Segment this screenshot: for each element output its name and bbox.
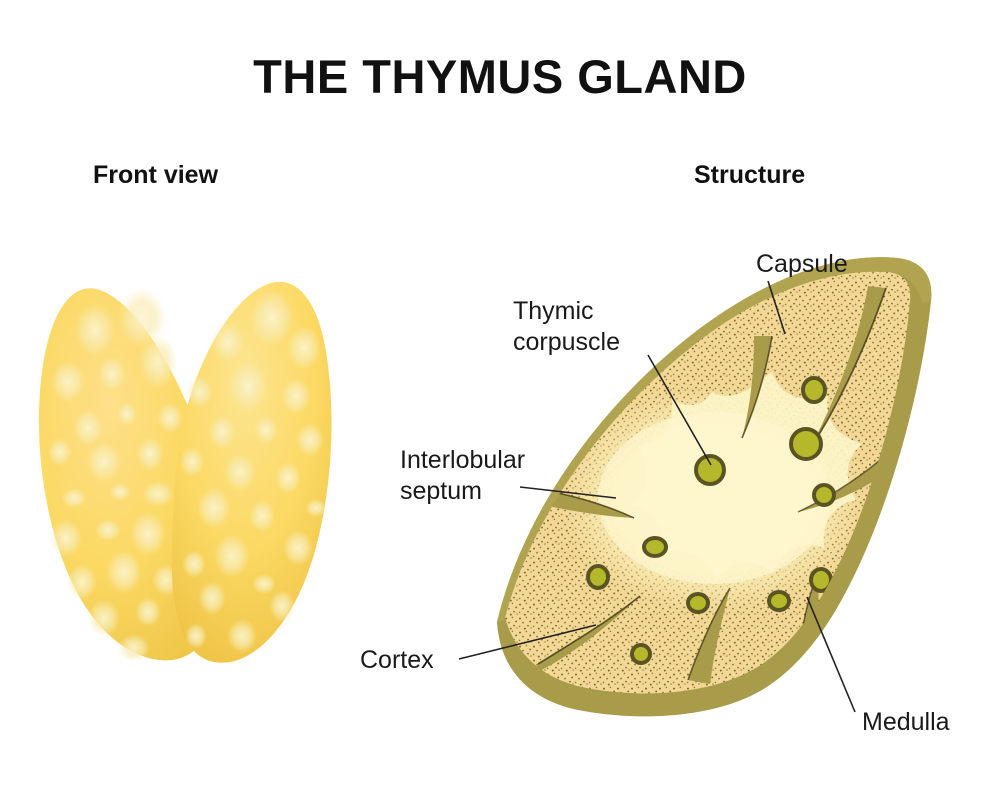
label-thymic-corpuscle-line2: corpuscle: [513, 328, 620, 356]
front-view-heading: Front view: [93, 161, 219, 189]
label-interlobular-septum-line2: septum: [400, 477, 482, 505]
right-lobe: [172, 282, 332, 663]
label-medulla: Medulla: [862, 708, 950, 736]
figure-root: THE THYMUS GLAND Front view Structure: [0, 0, 1000, 785]
label-interlobular-septum-line1: Interlobular: [400, 446, 525, 474]
structure-heading: Structure: [694, 161, 805, 189]
page-title: THE THYMUS GLAND: [253, 50, 747, 103]
label-thymic-corpuscle-line1: Thymic: [513, 297, 594, 325]
label-capsule: Capsule: [756, 250, 848, 278]
label-cortex: Cortex: [360, 646, 434, 674]
thymus-diagram: THE THYMUS GLAND Front view Structure: [0, 0, 1000, 785]
front-view-illustration: [39, 282, 332, 663]
structure-illustration: [497, 257, 931, 716]
